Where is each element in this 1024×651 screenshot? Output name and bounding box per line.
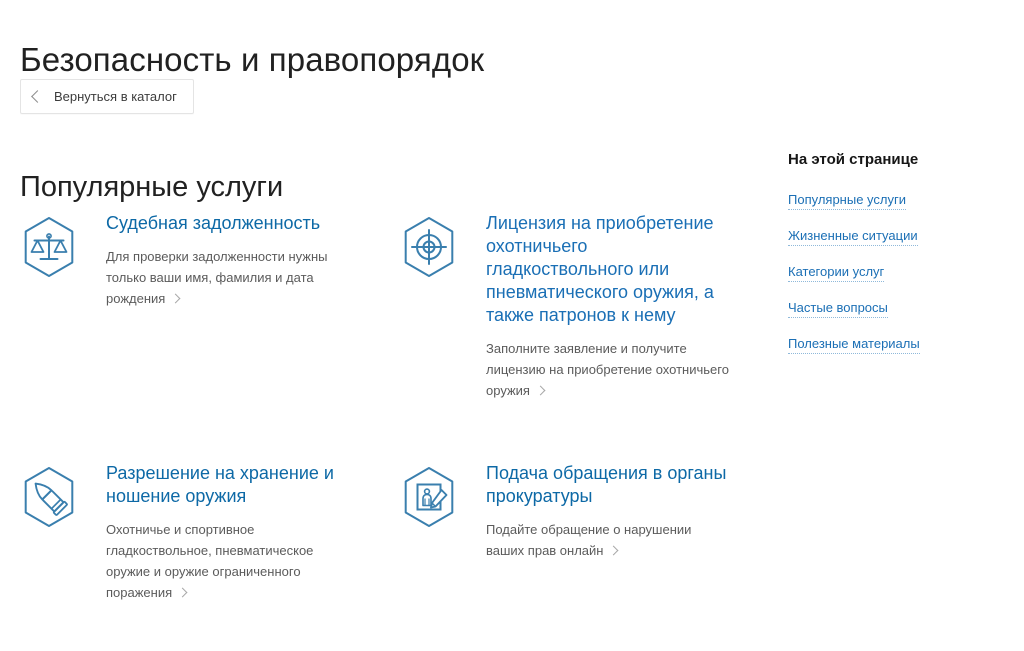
page-title: Безопасность и правопорядок xyxy=(20,40,484,80)
service-card-title[interactable]: Подача обращения в органы прокуратуры xyxy=(486,462,730,508)
document-pen-icon xyxy=(400,465,458,529)
page-root: Безопасность и правопорядок Вернуться в … xyxy=(0,0,1024,651)
service-card-title[interactable]: Судебная задолженность xyxy=(106,212,350,235)
toc-link-life-situations[interactable]: Жизненные ситуации xyxy=(788,227,918,246)
section-title-popular-services: Популярные услуги xyxy=(20,168,283,206)
back-to-catalog-label: Вернуться в каталог xyxy=(54,90,177,103)
service-card[interactable]: Лицензия на приобретение охотничьего гла… xyxy=(400,212,730,401)
chevron-right-icon[interactable] xyxy=(536,386,546,396)
on-this-page-heading: На этой странице xyxy=(788,150,1008,170)
chevron-right-icon[interactable] xyxy=(609,546,619,556)
toc-link-useful-materials[interactable]: Полезные материалы xyxy=(788,335,920,354)
bullet-cartridge-icon xyxy=(20,465,78,529)
service-card-title[interactable]: Лицензия на приобретение охотничьего гла… xyxy=(486,212,730,327)
on-this-page-nav: На этой странице Популярные услуги Жизне… xyxy=(788,150,1008,354)
service-card-body: Подача обращения в органы прокуратуры По… xyxy=(486,462,730,561)
service-card-body: Разрешение на хранение и ношение оружия … xyxy=(106,462,350,603)
service-card-description: Охотничье и спортивное гладкоствольное, … xyxy=(106,519,350,603)
service-card-title[interactable]: Разрешение на хранение и ношение оружия xyxy=(106,462,350,508)
crosshair-target-icon xyxy=(400,215,458,279)
service-card-body: Лицензия на приобретение охотничьего гла… xyxy=(486,212,730,401)
service-card[interactable]: Судебная задолженность Для проверки задо… xyxy=(20,212,350,309)
toc-link-faq[interactable]: Частые вопросы xyxy=(788,299,888,318)
toc-link-popular-services[interactable]: Популярные услуги xyxy=(788,191,906,210)
service-card[interactable]: Подача обращения в органы прокуратуры По… xyxy=(400,462,730,561)
service-card-description: Подайте обращение о нарушении ваших прав… xyxy=(486,519,730,561)
chevron-left-icon xyxy=(31,90,44,103)
service-card-description: Для проверки задолженности нужны только … xyxy=(106,246,350,309)
chevron-right-icon[interactable] xyxy=(171,294,181,304)
service-card-description-text: Для проверки задолженности нужны только … xyxy=(106,249,328,306)
toc-link-service-categories[interactable]: Категории услуг xyxy=(788,263,884,282)
service-card-description-text: Заполните заявление и получите лицензию … xyxy=(486,341,729,398)
service-card-description-text: Подайте обращение о нарушении ваших прав… xyxy=(486,522,691,558)
service-card-description-text: Охотничье и спортивное гладкоствольное, … xyxy=(106,522,313,600)
service-card-description: Заполните заявление и получите лицензию … xyxy=(486,338,730,401)
scales-of-justice-icon xyxy=(20,215,78,279)
service-card-body: Судебная задолженность Для проверки задо… xyxy=(106,212,350,309)
back-to-catalog-button[interactable]: Вернуться в каталог xyxy=(20,79,194,114)
service-card[interactable]: Разрешение на хранение и ношение оружия … xyxy=(20,462,350,603)
chevron-right-icon[interactable] xyxy=(178,588,188,598)
